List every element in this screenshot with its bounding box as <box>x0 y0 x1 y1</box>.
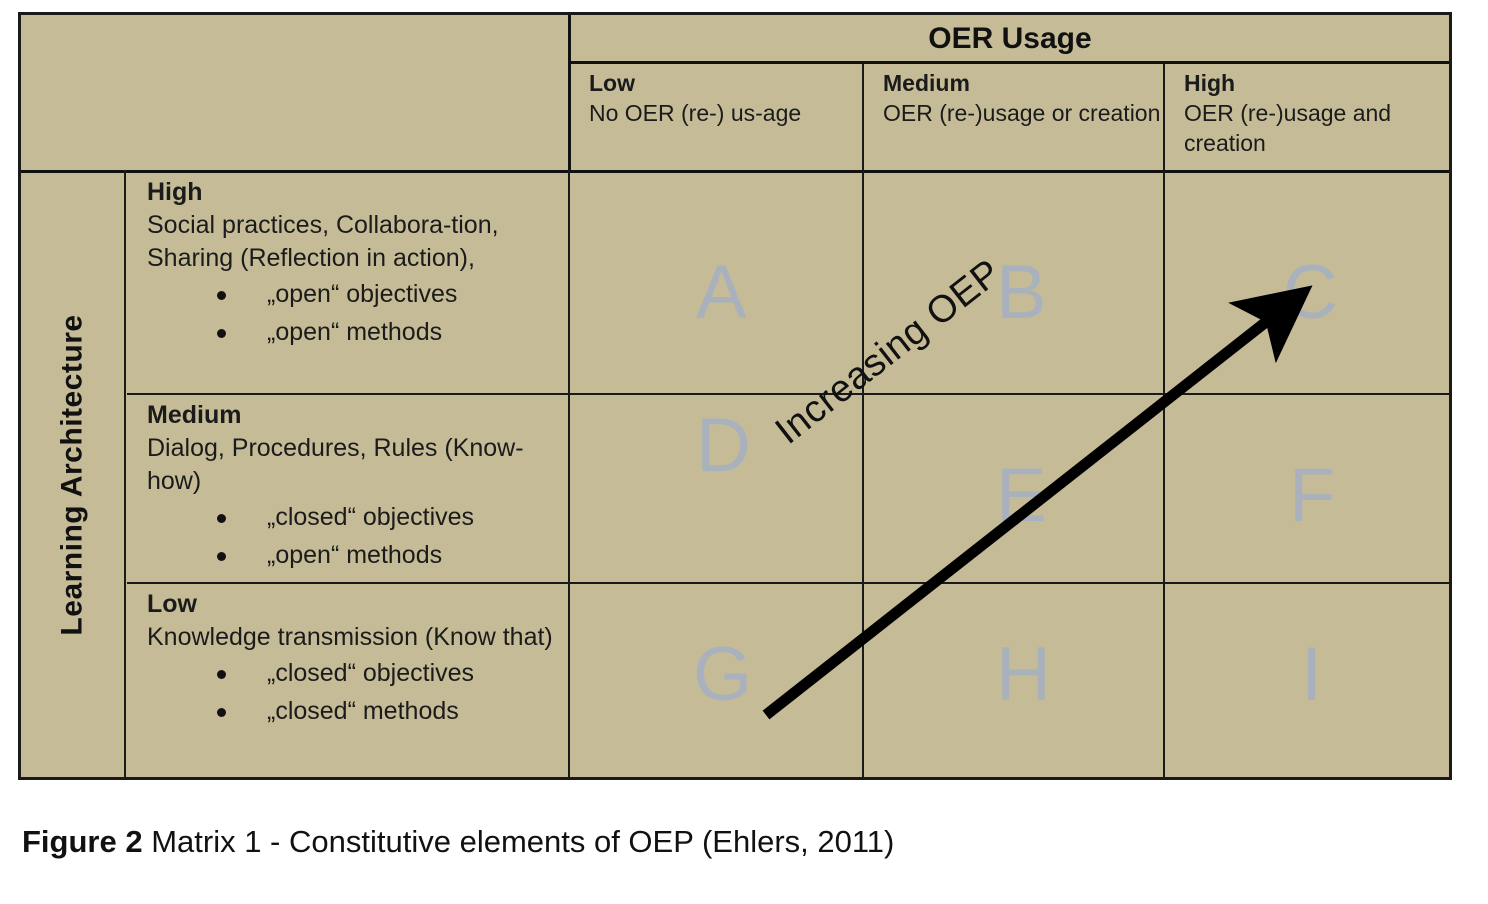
row-header-high-title: High <box>147 176 565 209</box>
cell-letter-d: D <box>696 408 751 484</box>
column-header-high-title: High <box>1184 68 1449 98</box>
bullet-item: „closed“ objectives <box>217 498 565 536</box>
figure-container: OER Usage Low No OER (re-) us-age Medium… <box>0 0 1488 904</box>
cell-letter-g: G <box>693 637 752 713</box>
grid-line-col2-right <box>1163 170 1165 780</box>
column-header-low-title: Low <box>589 68 862 98</box>
column-axis-title: OER Usage <box>571 15 1449 62</box>
row-header-low-title: Low <box>147 588 565 621</box>
cell-letter-f: F <box>1289 458 1335 534</box>
column-header-medium-desc: OER (re-)usage or creation <box>883 98 1163 128</box>
column-header-high: High OER (re-)usage and creation <box>1166 64 1449 170</box>
oep-matrix-table: OER Usage Low No OER (re-) us-age Medium… <box>18 12 1452 780</box>
arrow-label: Increasing OEP <box>768 251 1010 453</box>
row-header-medium-desc: Dialog, Procedures, Rules (Know-how) <box>147 432 565 498</box>
grid-line-spine-right <box>124 170 126 780</box>
cell-letter-c: C <box>1283 255 1338 331</box>
grid-line-col3-left-header <box>1163 64 1165 170</box>
bullet-item: „open“ methods <box>217 536 565 574</box>
row-header-medium-title: Medium <box>147 399 565 432</box>
row-header-medium: Medium Dialog, Procedures, Rules (Know-h… <box>127 395 571 582</box>
cell-letter-i: I <box>1301 637 1322 713</box>
row-header-high: High Social practices, Collabora-tion, S… <box>127 172 571 393</box>
column-header-high-desc: OER (re-)usage and creation <box>1184 98 1449 158</box>
bullet-item: „open“ methods <box>217 313 565 351</box>
bullet-item: „closed“ methods <box>217 692 565 730</box>
row-header-high-bullets: „open“ objectives „open“ methods <box>147 275 565 351</box>
cell-letter-e: E <box>996 458 1047 534</box>
bullet-item: „open“ objectives <box>217 275 565 313</box>
grid-line-col1-right <box>862 170 864 780</box>
row-header-low-bullets: „closed“ objectives „closed“ methods <box>147 654 565 730</box>
row-header-medium-bullets: „closed“ objectives „open“ methods <box>147 498 565 574</box>
row-axis-title-container: Learning Architecture <box>21 170 124 780</box>
column-header-medium: Medium OER (re-)usage or creation <box>865 64 1163 170</box>
row-header-high-desc: Social practices, Collabora-tion, Sharin… <box>147 209 565 275</box>
row-header-low: Low Knowledge transmission (Know that) „… <box>127 584 571 780</box>
bullet-item: „closed“ objectives <box>217 654 565 692</box>
figure-caption-text: Matrix 1 - Constitutive elements of OEP … <box>143 824 895 859</box>
column-header-low: Low No OER (re-) us-age <box>571 64 862 170</box>
cell-letter-h: H <box>996 637 1051 713</box>
figure-caption-label: Figure 2 <box>22 824 143 859</box>
cell-letter-a: A <box>696 255 747 331</box>
figure-caption: Figure 2 Matrix 1 - Constitutive element… <box>22 824 894 860</box>
row-header-low-desc: Knowledge transmission (Know that) <box>147 621 565 654</box>
column-header-low-desc: No OER (re-) us-age <box>589 98 862 128</box>
grid-line-col2-left-header <box>862 64 864 170</box>
column-header-medium-title: Medium <box>883 68 1163 98</box>
row-axis-title: Learning Architecture <box>56 314 90 635</box>
cell-letter-b: B <box>996 255 1047 331</box>
